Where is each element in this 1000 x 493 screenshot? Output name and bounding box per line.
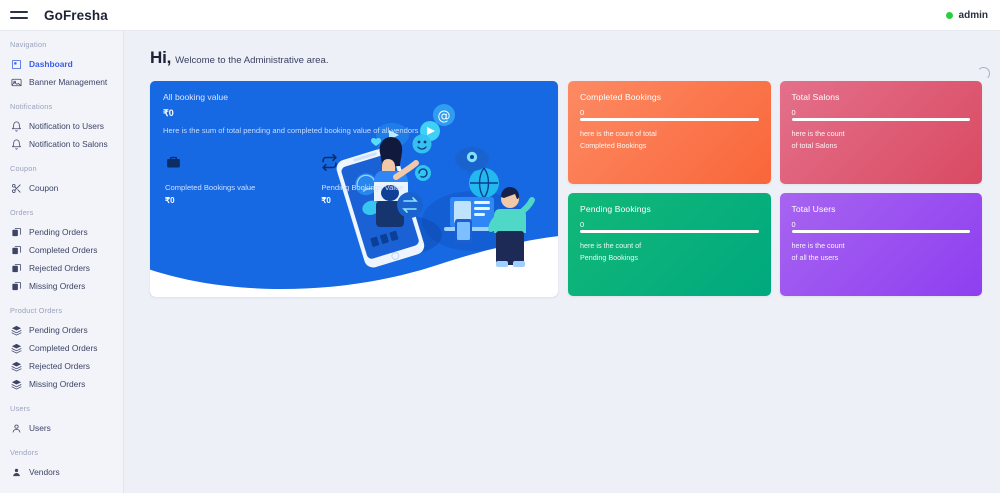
stat-card-completed-bookings[interactable]: Completed Bookings0here is the count of … xyxy=(568,81,771,184)
sidebar-item-label: Coupon xyxy=(29,184,58,192)
stat-card-progress-bar xyxy=(792,118,971,121)
orders-icon xyxy=(11,227,22,238)
sidebar-group: VendorsVendors xyxy=(0,448,123,481)
sidebar-item-missing-orders[interactable]: Missing Orders xyxy=(0,375,123,393)
sidebar-item-label: Pending Orders xyxy=(29,326,88,334)
sidebar-section-title: Product Orders xyxy=(0,306,123,315)
sidebar-item-label: Vendors xyxy=(29,468,60,476)
sidebar-item-pending-orders[interactable]: Pending Orders xyxy=(0,223,123,241)
sidebar-item-label: Dashboard xyxy=(29,60,73,68)
sidebar-navigation: NavigationDashboardBanner ManagementNoti… xyxy=(0,31,124,493)
hero-column: All booking value ₹0 Here is the sum of … xyxy=(150,81,558,297)
sidebar-item-notification-to-salons[interactable]: Notification to Salons xyxy=(0,135,123,153)
stat-card-progress-bar xyxy=(580,230,759,233)
sidebar-item-users[interactable]: Users xyxy=(0,419,123,437)
layers-icon xyxy=(11,379,22,390)
admin-dashboard-page: GoFresha admin NavigationDashboardBanner… xyxy=(0,0,1000,493)
hero-stat-value: ₹0 xyxy=(165,196,255,205)
stat-card-progress-bar xyxy=(580,118,759,121)
stat-card-title: Completed Bookings xyxy=(580,92,759,102)
hero-amount: ₹0 xyxy=(163,108,545,119)
stat-card-description-line1: here is the count of total xyxy=(580,128,759,140)
sidebar-item-label: Missing Orders xyxy=(29,380,85,388)
bell-icon xyxy=(11,121,22,132)
stat-card-total-users[interactable]: Total Users0here is the countof all the … xyxy=(780,193,983,296)
stat-card-count: 0 xyxy=(580,221,759,228)
repeat-icon xyxy=(321,154,403,176)
sidebar-item-label: Completed Orders xyxy=(29,344,97,352)
sidebar-item-coupon[interactable]: Coupon xyxy=(0,179,123,197)
sidebar-section-title: Notifications xyxy=(0,102,123,111)
banner-icon xyxy=(11,77,22,88)
stat-card-description-line2: of all the users xyxy=(792,252,971,264)
sidebar-group: CouponCoupon xyxy=(0,164,123,197)
layers-icon xyxy=(11,325,22,336)
page-greeting: Hi, Welcome to the Administrative area. xyxy=(150,31,982,81)
stat-card-title: Total Salons xyxy=(792,92,971,102)
layers-icon xyxy=(11,361,22,372)
greeting-hi: Hi, xyxy=(150,48,171,68)
layers-icon xyxy=(11,343,22,354)
brand-title: GoFresha xyxy=(44,8,108,23)
stat-card-progress-bar xyxy=(792,230,971,233)
main-content: Hi, Welcome to the Administrative area. … xyxy=(124,31,1000,493)
sidebar-section-title: Vendors xyxy=(0,448,123,457)
sidebar-section-title: Coupon xyxy=(0,164,123,173)
sidebar-item-dashboard[interactable]: Dashboard xyxy=(0,55,123,73)
admin-username: admin xyxy=(959,10,988,21)
sidebar-item-label: Rejected Orders xyxy=(29,264,90,272)
hero-stat-pending: Pending Bookings Value ₹0 xyxy=(321,154,403,205)
sidebar-item-label: Users xyxy=(29,424,51,432)
orders-icon xyxy=(11,245,22,256)
orders-icon xyxy=(11,263,22,274)
sidebar-item-missing-orders[interactable]: Missing Orders xyxy=(0,277,123,295)
stat-card-description-line1: here is the count of xyxy=(580,240,759,252)
stat-card-total-salons[interactable]: Total Salons0here is the countof total S… xyxy=(780,81,983,184)
sidebar-item-rejected-orders[interactable]: Rejected Orders xyxy=(0,259,123,277)
stat-cards-grid: Completed Bookings0here is the count of … xyxy=(568,81,982,296)
sidebar-group: Product OrdersPending OrdersCompleted Or… xyxy=(0,306,123,393)
hamburger-menu-icon[interactable] xyxy=(10,8,30,22)
sidebar-group: OrdersPending OrdersCompleted OrdersReje… xyxy=(0,208,123,295)
stat-card-count: 0 xyxy=(792,109,971,116)
sidebar-group: UsersUsers xyxy=(0,404,123,437)
sidebar-group: NavigationDashboardBanner Management xyxy=(0,40,123,91)
user-icon xyxy=(11,423,22,434)
greeting-message: Welcome to the Administrative area. xyxy=(175,55,328,66)
all-booking-value-card: All booking value ₹0 Here is the sum of … xyxy=(150,81,558,297)
sidebar-item-label: Notification to Salons xyxy=(29,140,108,148)
bell-icon xyxy=(11,139,22,150)
stat-card-description-line1: here is the count xyxy=(792,240,971,252)
sidebar-item-banner-management[interactable]: Banner Management xyxy=(0,73,123,91)
topbar-user-area[interactable]: admin xyxy=(946,10,988,21)
hero-text-block: All booking value ₹0 Here is the sum of … xyxy=(150,81,558,135)
sidebar-item-label: Completed Orders xyxy=(29,246,97,254)
stat-card-pending-bookings[interactable]: Pending Bookings0here is the count ofPen… xyxy=(568,193,771,296)
hero-stat-value: ₹0 xyxy=(321,196,403,205)
stat-card-title: Total Users xyxy=(792,204,971,214)
sidebar-group: NotificationsNotification to UsersNotifi… xyxy=(0,102,123,153)
briefcase-icon xyxy=(165,154,255,176)
sidebar-item-label: Pending Orders xyxy=(29,228,88,236)
sidebar-item-label: Missing Orders xyxy=(29,282,85,290)
sidebar-item-label: Banner Management xyxy=(29,78,107,86)
orders-icon xyxy=(11,281,22,292)
sidebar-item-vendors[interactable]: Vendors xyxy=(0,463,123,481)
hero-stat-label: Pending Bookings Value xyxy=(321,183,403,192)
dashboard-card-grid: All booking value ₹0 Here is the sum of … xyxy=(150,81,982,297)
stat-card-title: Pending Bookings xyxy=(580,204,759,214)
stat-card-count: 0 xyxy=(580,109,759,116)
stat-card-description-line1: here is the count xyxy=(792,128,971,140)
loading-spinner-icon xyxy=(977,67,990,80)
body-wrapper: NavigationDashboardBanner ManagementNoti… xyxy=(0,31,1000,493)
stat-card-description-line2: Pending Bookings xyxy=(580,252,759,264)
stat-card-description-line2: Completed Bookings xyxy=(580,140,759,152)
sidebar-section-title: Orders xyxy=(0,208,123,217)
hero-description: Here is the sum of total pending and com… xyxy=(163,126,545,135)
sidebar-item-label: Rejected Orders xyxy=(29,362,90,370)
hero-stats-row: Completed Bookings value ₹0 xyxy=(150,135,558,205)
dashboard-icon xyxy=(11,59,22,70)
top-bar: GoFresha admin xyxy=(0,0,1000,31)
sidebar-item-completed-orders[interactable]: Completed Orders xyxy=(0,339,123,357)
scissors-icon xyxy=(11,183,22,194)
sidebar-item-label: Notification to Users xyxy=(29,122,104,130)
sidebar-section-title: Users xyxy=(0,404,123,413)
sidebar-item-rejected-orders[interactable]: Rejected Orders xyxy=(0,357,123,375)
vendor-icon xyxy=(11,467,22,478)
stat-card-description-line2: of total Salons xyxy=(792,140,971,152)
online-status-dot xyxy=(946,12,953,19)
stat-card-count: 0 xyxy=(792,221,971,228)
sidebar-item-pending-orders[interactable]: Pending Orders xyxy=(0,321,123,339)
sidebar-section-title: Navigation xyxy=(0,40,123,49)
sidebar-item-notification-to-users[interactable]: Notification to Users xyxy=(0,117,123,135)
hero-stat-completed: Completed Bookings value ₹0 xyxy=(165,154,255,205)
hero-stat-label: Completed Bookings value xyxy=(165,183,255,192)
sidebar-item-completed-orders[interactable]: Completed Orders xyxy=(0,241,123,259)
hero-title: All booking value xyxy=(163,92,545,102)
